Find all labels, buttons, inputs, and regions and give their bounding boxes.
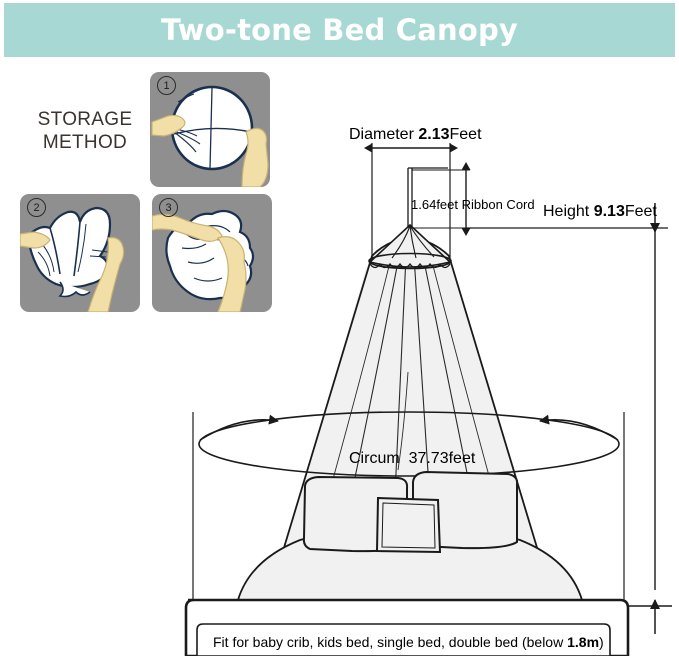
circum-unit: feet xyxy=(449,450,476,467)
storage-step-number-3: 3 xyxy=(159,198,178,217)
diameter-unit: Feet xyxy=(450,126,482,143)
diameter-label: Diameter xyxy=(349,126,414,143)
storage-step-number-2: 2 xyxy=(27,198,46,217)
diameter-value: 2.13 xyxy=(418,126,449,143)
canopy-diagram xyxy=(0,0,679,656)
height-value: 9.13 xyxy=(594,203,625,220)
fit-caption-suffix: ) xyxy=(599,634,604,650)
ribbon-value: 1.64 xyxy=(411,197,436,212)
fit-caption: Fit for baby crib, kids bed, single bed,… xyxy=(213,634,604,650)
diameter-annotation: Diameter 2.13Feet xyxy=(349,126,482,144)
storage-step-number-1: 1 xyxy=(157,76,176,95)
ribbon-label: Ribbon Cord xyxy=(462,197,535,212)
height-unit: Feet xyxy=(625,203,657,220)
ribbon-unit: feet xyxy=(436,197,458,212)
fit-caption-text: Fit for baby crib, kids bed, single bed,… xyxy=(213,634,563,650)
fit-caption-value: 1.8m xyxy=(567,634,599,650)
circum-label: Circum xyxy=(349,450,400,467)
bed-illustration xyxy=(186,472,628,656)
height-label: Height xyxy=(543,203,589,220)
ribbon-cord-annotation: 1.64feet Ribbon Cord xyxy=(411,197,535,212)
height-annotation: Height 9.13Feet xyxy=(543,203,657,221)
circum-value: 37.73 xyxy=(409,450,449,467)
circumference-annotation: Circum 37.73feet xyxy=(349,450,475,468)
